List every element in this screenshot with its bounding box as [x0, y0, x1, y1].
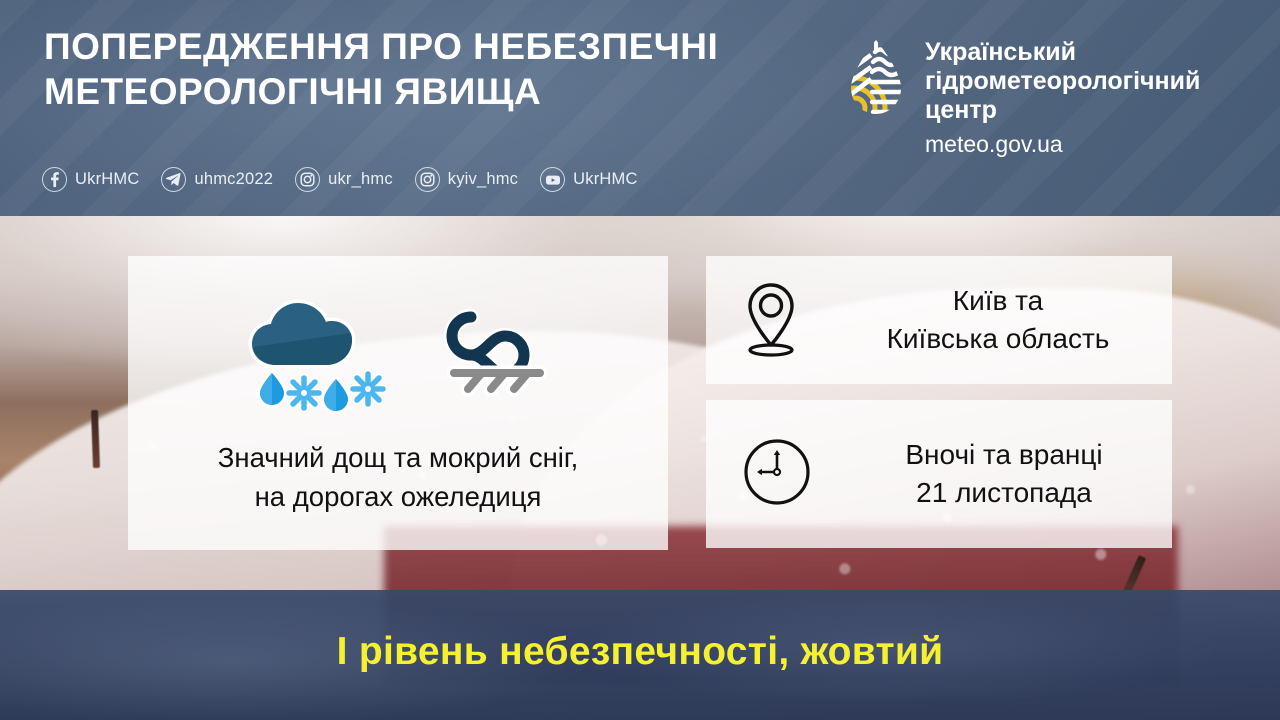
social-label-instagram-kyiv: kyiv_hmc — [448, 170, 518, 189]
rain-sleet-cloud-icon — [236, 285, 388, 418]
social-links-bar: UkrHMC uhmc2022 ukr_hmc — [42, 167, 660, 192]
water-droplet-logo-icon — [845, 38, 907, 116]
danger-level-text: І рівень небезпечності, жовтий — [337, 630, 944, 674]
danger-level-band: І рівень небезпечності, жовтий — [0, 590, 1280, 720]
page-title-line2: МЕТЕОРОЛОГІЧНІ ЯВИЩА — [44, 69, 824, 114]
location-text: Київ та Київська область — [824, 282, 1172, 358]
organization-name: Український гідрометеорологічний центр m… — [925, 38, 1200, 159]
icy-road-icon — [434, 293, 560, 410]
phenomena-caption-line2: на дорогах ожеледиця — [255, 481, 542, 512]
telegram-icon — [161, 167, 186, 192]
instagram-icon — [415, 167, 440, 192]
location-line1: Київ та — [953, 285, 1043, 316]
social-link-telegram[interactable]: uhmc2022 — [161, 167, 273, 192]
header-band: ПОПЕРЕДЖЕННЯ ПРО НЕБЕЗПЕЧНІ МЕТЕОРОЛОГІЧ… — [0, 0, 1280, 216]
organization-name-line3: центр — [925, 96, 1200, 125]
youtube-icon — [540, 167, 565, 192]
clock-icon — [742, 437, 812, 512]
phenomena-caption: Значний дощ та мокрий сніг, на дорогах о… — [196, 438, 600, 516]
social-label-facebook: UkrHMC — [75, 170, 139, 189]
page-title-line1: ПОПЕРЕДЖЕННЯ ПРО НЕБЕЗПЕЧНІ — [44, 26, 718, 67]
social-label-telegram: uhmc2022 — [194, 170, 273, 189]
time-text: Вночі та вранці 21 листопада — [836, 436, 1172, 512]
instagram-icon — [295, 167, 320, 192]
social-link-youtube[interactable]: UkrHMC — [540, 167, 637, 192]
time-line2: 21 листопада — [916, 477, 1092, 508]
organization-logo: Український гідрометеорологічний центр m… — [845, 38, 1200, 159]
social-label-instagram-ukr: ukr_hmc — [328, 170, 393, 189]
social-label-youtube: UkrHMC — [573, 170, 637, 189]
location-line2: Київська область — [887, 323, 1110, 354]
map-pin-icon — [740, 279, 802, 362]
page-title: ПОПЕРЕДЖЕННЯ ПРО НЕБЕЗПЕЧНІ МЕТЕОРОЛОГІЧ… — [44, 24, 824, 114]
organization-website-url[interactable]: meteo.gov.ua — [925, 129, 1200, 159]
time-panel: Вночі та вранці 21 листопада — [706, 400, 1172, 548]
social-link-instagram-kyiv[interactable]: kyiv_hmc — [415, 167, 518, 192]
organization-name-line2: гідрометеорологічний — [925, 67, 1200, 96]
social-link-instagram-ukr[interactable]: ukr_hmc — [295, 167, 393, 192]
social-link-facebook[interactable]: UkrHMC — [42, 167, 139, 192]
time-line1: Вночі та вранці — [905, 439, 1102, 470]
location-panel: Київ та Київська область — [706, 256, 1172, 384]
facebook-icon — [42, 167, 67, 192]
phenomena-caption-line1: Значний дощ та мокрий сніг, — [218, 442, 578, 473]
phenomena-icon-row — [236, 286, 560, 416]
organization-name-line1: Український — [925, 38, 1200, 67]
phenomena-panel: Значний дощ та мокрий сніг, на дорогах о… — [128, 256, 668, 550]
infographic-canvas: ПОПЕРЕДЖЕННЯ ПРО НЕБЕЗПЕЧНІ МЕТЕОРОЛОГІЧ… — [0, 0, 1280, 720]
